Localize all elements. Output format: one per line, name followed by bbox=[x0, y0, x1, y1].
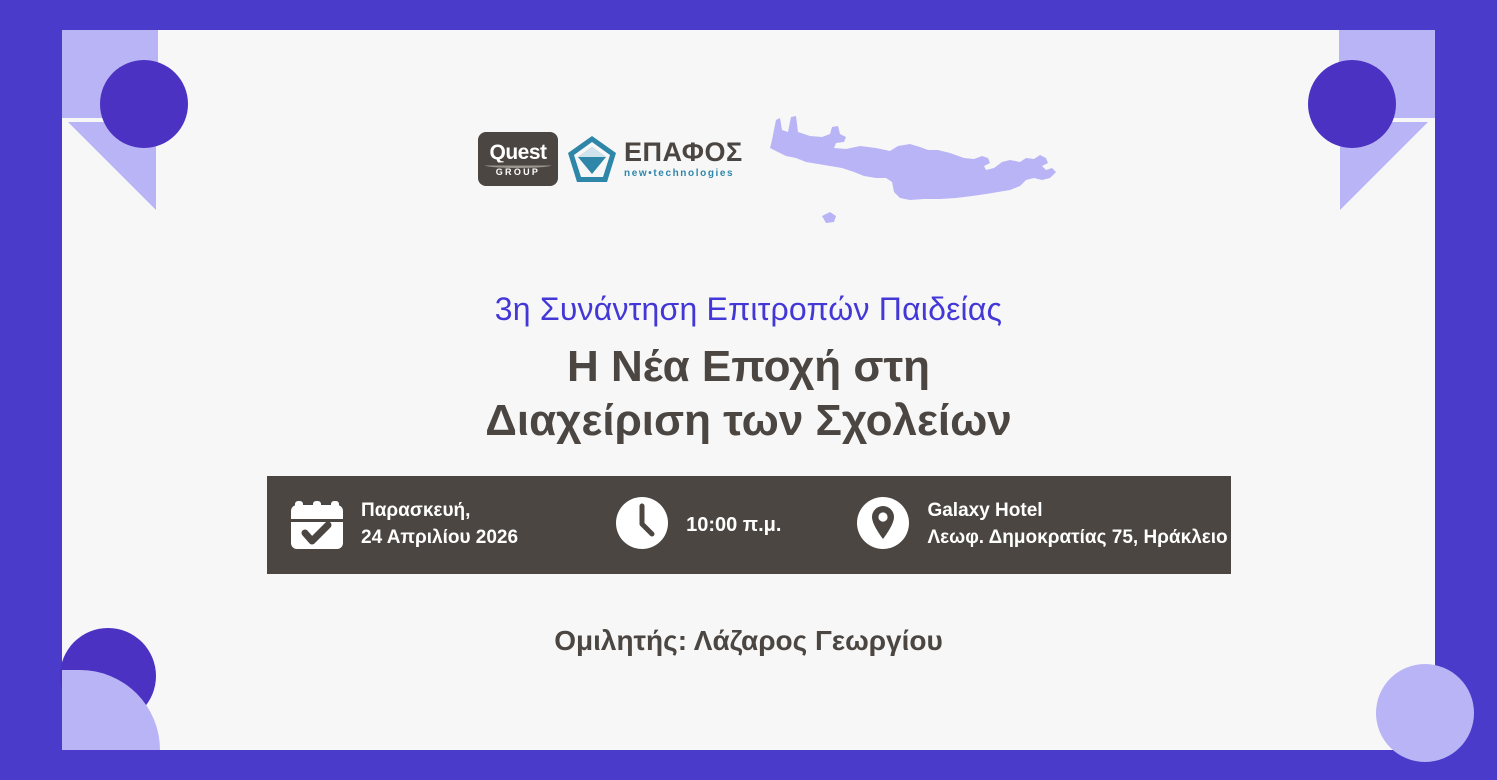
event-time-item: 10:00 π.μ. bbox=[614, 495, 781, 556]
epafos-wordmark: ΕΠΑΦΟΣ bbox=[624, 139, 743, 166]
event-date-line-2: 24 Απριλίου 2026 bbox=[361, 527, 518, 548]
event-info-bar: Παρασκευή, 24 Απριλίου 2026 10:00 π.μ. bbox=[267, 476, 1231, 574]
logo-group: Quest GROUP ΕΠΑΦΟΣ new•technologies bbox=[478, 132, 743, 186]
calendar-check-icon bbox=[289, 495, 345, 556]
quest-swoosh-icon bbox=[484, 162, 552, 168]
event-subtitle: 3η Συνάντηση Επιτροπών Παιδείας bbox=[0, 291, 1497, 328]
quest-group-label: GROUP bbox=[496, 168, 541, 177]
quest-group-logo: Quest GROUP bbox=[478, 132, 558, 186]
event-date-item: Παρασκευή, 24 Απριλίου 2026 bbox=[289, 495, 518, 556]
epafos-diamond-icon bbox=[566, 133, 618, 185]
event-date-text: Παρασκευή, 24 Απριλίου 2026 bbox=[361, 498, 518, 552]
event-time-text: 10:00 π.μ. bbox=[686, 511, 781, 539]
event-poster: Quest GROUP ΕΠΑΦΟΣ new•technologies bbox=[0, 0, 1497, 780]
event-location-text: Galaxy Hotel Λεωφ. Δημοκρατίας 75, Ηράκλ… bbox=[927, 498, 1227, 552]
event-venue-address: Λεωφ. Δημοκρατίας 75, Ηράκλειο bbox=[927, 527, 1227, 548]
event-title: Η Νέα Εποχή στη Διαχείριση των Σχολείων bbox=[0, 340, 1497, 447]
crete-map-icon bbox=[758, 106, 1078, 228]
quest-wordmark: Quest bbox=[489, 142, 546, 163]
event-venue-name: Galaxy Hotel bbox=[927, 500, 1042, 521]
map-pin-icon bbox=[855, 495, 911, 556]
decoration-bottom-right-circle bbox=[1376, 664, 1474, 762]
event-location-item: Galaxy Hotel Λεωφ. Δημοκρατίας 75, Ηράκλ… bbox=[855, 495, 1227, 556]
epafos-tagline: new•technologies bbox=[624, 169, 743, 179]
event-title-line-1: Η Νέα Εποχή στη bbox=[0, 340, 1497, 394]
event-title-line-2: Διαχείριση των Σχολείων bbox=[0, 394, 1497, 448]
poster-header: Quest GROUP ΕΠΑΦΟΣ new•technologies bbox=[0, 100, 1497, 230]
clock-icon bbox=[614, 495, 670, 556]
epafos-text-block: ΕΠΑΦΟΣ new•technologies bbox=[624, 139, 743, 179]
epafos-logo: ΕΠΑΦΟΣ new•technologies bbox=[566, 133, 743, 185]
event-date-line-1: Παρασκευή, bbox=[361, 500, 470, 521]
event-speaker: Ομιλητής: Λάζαρος Γεωργίου bbox=[0, 625, 1497, 657]
